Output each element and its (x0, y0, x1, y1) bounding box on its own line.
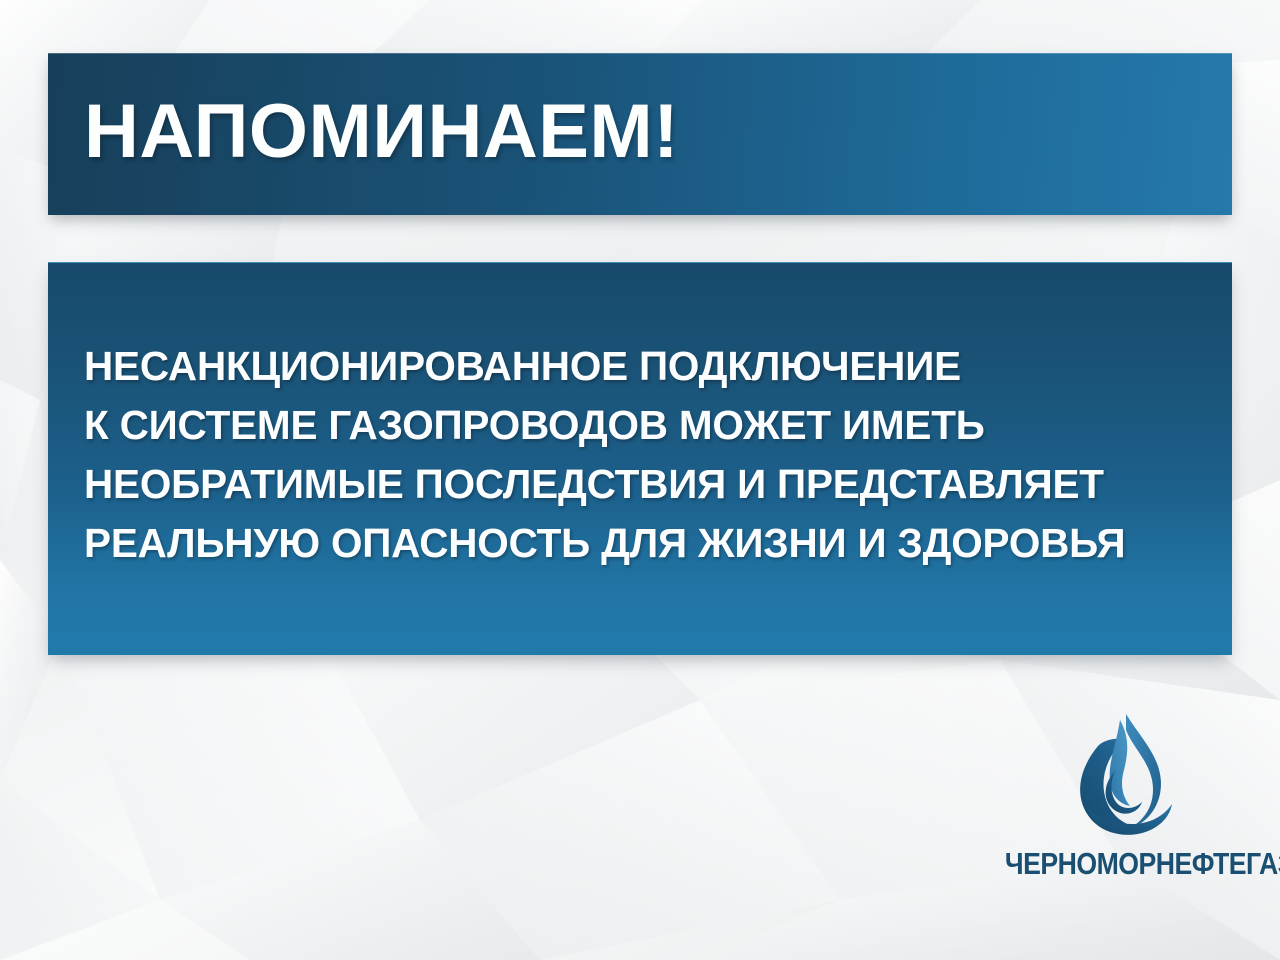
gas-flame-droplet-icon (1064, 712, 1184, 840)
header-banner: НАПОМИНАЕМ! (48, 53, 1232, 215)
warning-message-text: НЕСАНКЦИОНИРОВАННОЕ ПОДКЛЮЧЕНИЕ К СИСТЕМ… (48, 337, 1135, 574)
page-title: НАПОМИНАЕМ! (48, 94, 679, 170)
company-logo: ЧЕРНОМОРНЕФТЕГАЗ (986, 712, 1256, 890)
poster-canvas: НАПОМИНАЕМ! НЕСАНКЦИОНИРОВАННОЕ ПОДКЛЮЧЕ… (0, 0, 1280, 960)
company-name: ЧЕРНОМОРНЕФТЕГАЗ (1005, 846, 1237, 882)
message-banner: НЕСАНКЦИОНИРОВАННОЕ ПОДКЛЮЧЕНИЕ К СИСТЕМ… (48, 262, 1232, 655)
